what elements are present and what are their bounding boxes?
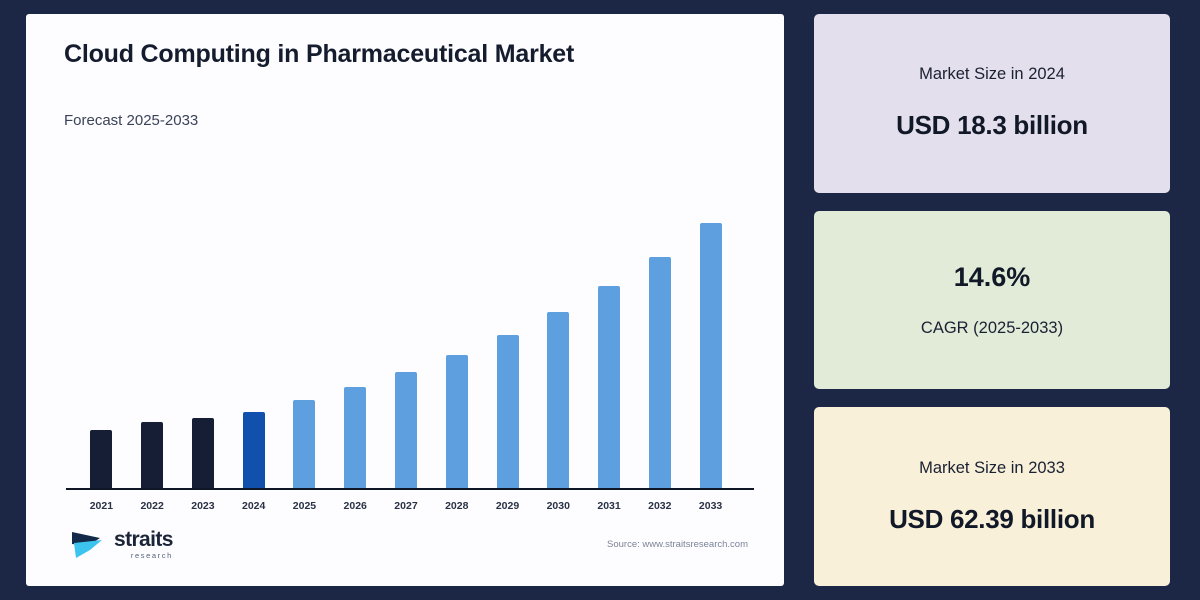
straits-research-logo: straits research (70, 527, 173, 561)
stat-card-label: Market Size in 2024 (919, 65, 1065, 84)
x-tick-2028: 2028 (431, 500, 482, 512)
x-tick-2024: 2024 (228, 500, 279, 512)
bar-slot (178, 190, 229, 490)
chart-subtitle: Forecast 2025-2033 (64, 112, 762, 129)
arrow-mark-icon (70, 527, 108, 561)
bar-2031 (598, 286, 620, 490)
bar-2030 (547, 312, 569, 490)
stat-card-label: Market Size in 2033 (919, 459, 1065, 478)
logo-name: straits (114, 529, 173, 550)
stat-card-1: Market Size in 2024USD 18.3 billion (814, 14, 1170, 193)
bar-slot (482, 190, 533, 490)
x-tick-2022: 2022 (127, 500, 178, 512)
bar-slot (381, 190, 432, 490)
logo-tagline: research (114, 552, 173, 560)
bar-2024 (243, 412, 265, 490)
bar-slot (584, 190, 635, 490)
bar-slot (431, 190, 482, 490)
stat-card-value: 14.6% (954, 262, 1031, 293)
bar-series (66, 190, 746, 490)
chart-panel: Cloud Computing in Pharmaceutical Market… (26, 14, 784, 586)
stat-cards: Market Size in 2024USD 18.3 billion14.6%… (814, 14, 1170, 586)
x-axis-line (66, 488, 754, 491)
x-tick-2023: 2023 (178, 500, 229, 512)
bar-slot (634, 190, 685, 490)
infographic-page: Cloud Computing in Pharmaceutical Market… (0, 0, 1200, 600)
stat-card-label: CAGR (2025-2033) (921, 319, 1063, 338)
x-tick-2025: 2025 (279, 500, 330, 512)
x-tick-2033: 2033 (685, 500, 736, 512)
x-tick-2032: 2032 (634, 500, 685, 512)
bar-chart-plot: 2021202220232024202520262027202820292030… (66, 151, 754, 516)
bar-slot (533, 190, 584, 490)
bar-2023 (192, 418, 214, 490)
stat-card-value: USD 18.3 billion (896, 110, 1088, 141)
bar-slot (127, 190, 178, 490)
bar-2029 (497, 335, 519, 490)
bar-slot (279, 190, 330, 490)
x-axis-tick-labels: 2021202220232024202520262027202820292030… (66, 500, 746, 512)
chart-footer: straits research Source: www.straitsrese… (48, 516, 762, 572)
x-tick-2026: 2026 (330, 500, 381, 512)
x-tick-2029: 2029 (482, 500, 533, 512)
page-title: Cloud Computing in Pharmaceutical Market (64, 40, 762, 69)
bar-2026 (344, 387, 366, 490)
bar-2032 (649, 257, 671, 490)
stat-card-value: USD 62.39 billion (889, 504, 1095, 535)
bar-slot (330, 190, 381, 490)
bar-slot (76, 190, 127, 490)
bar-2028 (446, 355, 468, 490)
bar-2025 (293, 400, 315, 490)
logo-text: straits research (114, 529, 173, 560)
x-tick-2021: 2021 (76, 500, 127, 512)
x-tick-2030: 2030 (533, 500, 584, 512)
bar-2021 (90, 430, 112, 490)
stat-card-3: Market Size in 2033USD 62.39 billion (814, 407, 1170, 586)
stat-card-2: 14.6%CAGR (2025-2033) (814, 211, 1170, 390)
x-tick-2027: 2027 (381, 500, 432, 512)
bar-slot (685, 190, 736, 490)
bar-2027 (395, 372, 417, 490)
bar-slot (228, 190, 279, 490)
bar-2033 (700, 223, 722, 490)
bar-2022 (141, 422, 163, 490)
x-tick-2031: 2031 (584, 500, 635, 512)
source-note: Source: www.straitsresearch.com (607, 539, 748, 550)
